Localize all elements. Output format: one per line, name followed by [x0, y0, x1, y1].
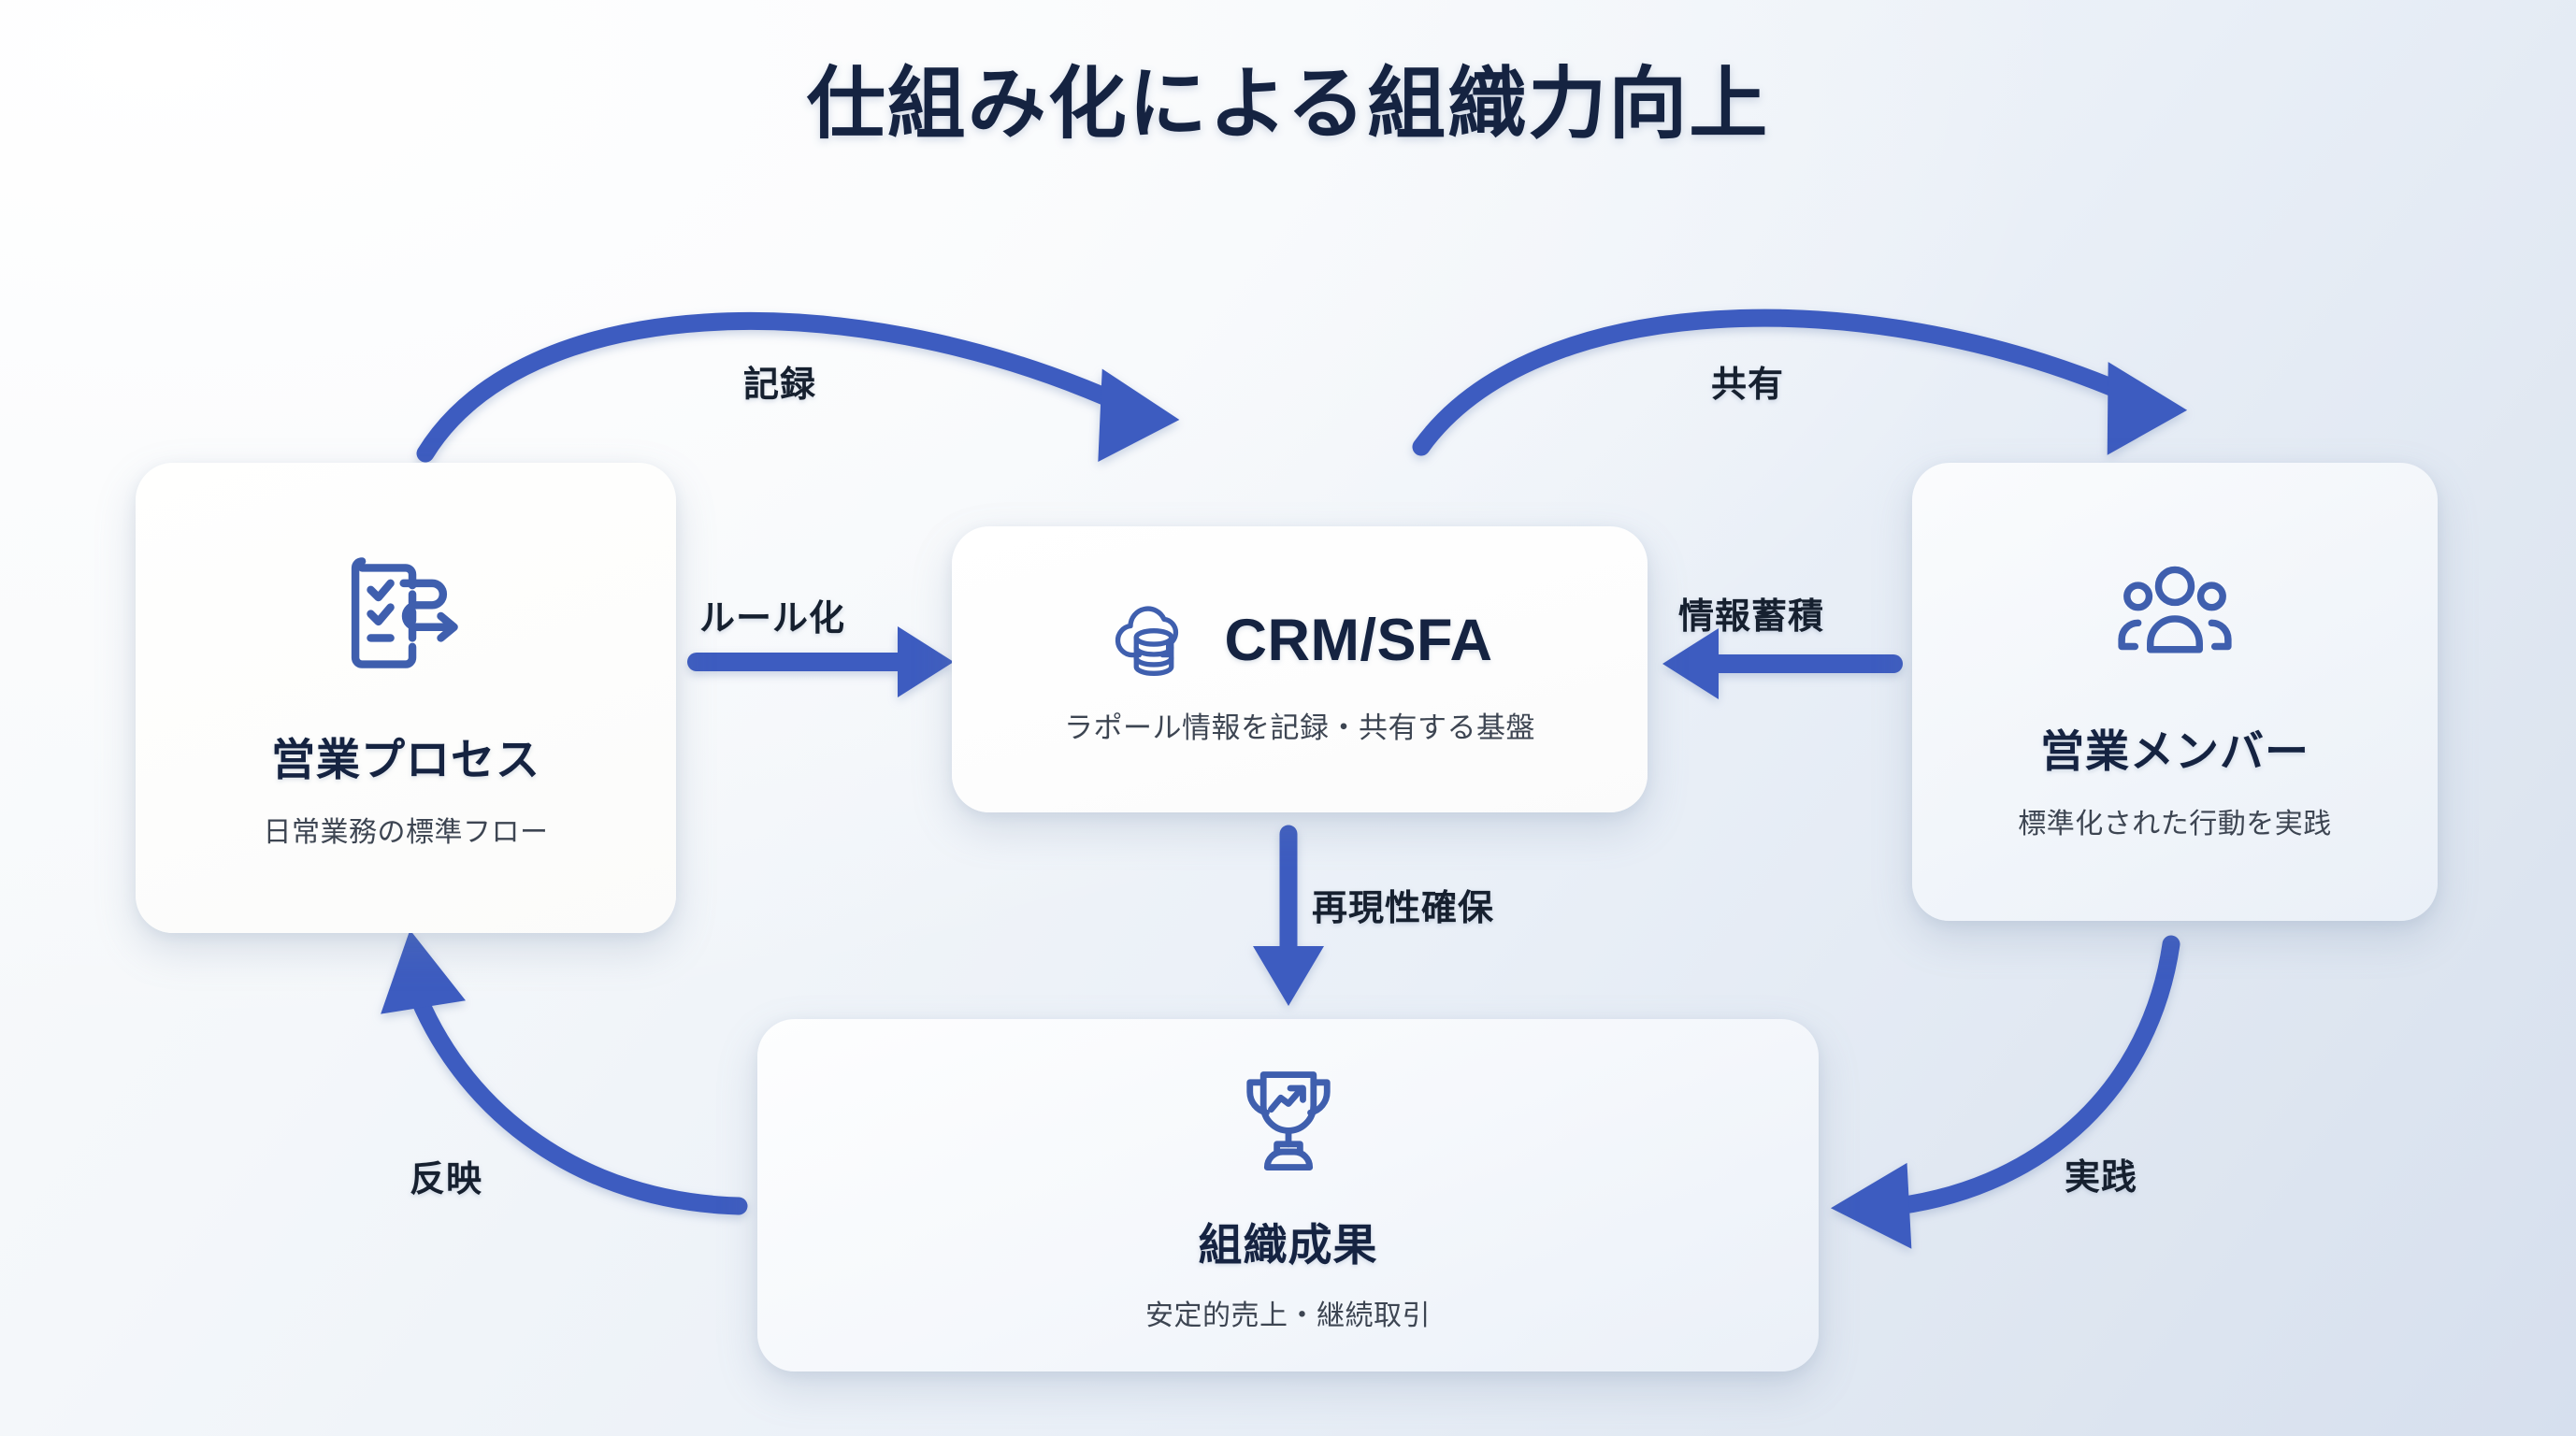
clipboard-checklist-flow-icon: [336, 546, 476, 686]
card-subtitle: ラポール情報を記録・共有する基盤: [1064, 704, 1535, 746]
trophy-growth-icon: [1227, 1057, 1350, 1181]
card-sales-process[interactable]: 営業プロセス 日常業務の標準フロー: [136, 463, 676, 933]
edge-label-chikuseki: 情報蓄積: [1678, 587, 1824, 639]
card-title: 営業プロセス: [271, 724, 540, 788]
card-subtitle: 安定的売上・継続取引: [1145, 1292, 1431, 1333]
edge-label-kyoyu: 共有: [1711, 355, 1784, 407]
card-title: CRM/SFA: [1225, 607, 1493, 674]
page-title: 仕組み化による組織力向上: [0, 60, 2576, 148]
card-sales-member[interactable]: 営業メンバー 標準化された行動を実践: [1912, 463, 2438, 921]
edge-label-jissen: 実践: [2065, 1148, 2137, 1199]
people-group-icon: [2109, 543, 2240, 674]
arrow-chikuseki: [1662, 628, 1893, 699]
arrow-jissen: [1829, 944, 2171, 1253]
crm-title-row: CRM/SFA: [1107, 594, 1493, 687]
edge-label-saigensei: 再現性確保: [1312, 879, 1494, 930]
card-subtitle: 日常業務の標準フロー: [264, 809, 549, 850]
card-organization-result[interactable]: 組織成果 安定的売上・継続取引: [757, 1019, 1819, 1371]
card-title: 営業メンバー: [2040, 715, 2310, 780]
card-subtitle: 標準化された行動を実践: [2018, 800, 2332, 841]
diagram-canvas: 仕組み化による組織力向上: [0, 0, 2576, 1436]
card-crm-sfa[interactable]: CRM/SFA ラポール情報を記録・共有する基盤: [952, 526, 1648, 812]
edge-label-rule: ルール化: [699, 589, 845, 640]
arrow-kyoyu: [1421, 318, 2187, 479]
edge-label-hanei: 反映: [410, 1150, 482, 1201]
card-title: 組織成果: [1199, 1209, 1378, 1273]
edge-label-kiroku: 記録: [743, 355, 816, 407]
cloud-database-icon: [1107, 594, 1201, 687]
